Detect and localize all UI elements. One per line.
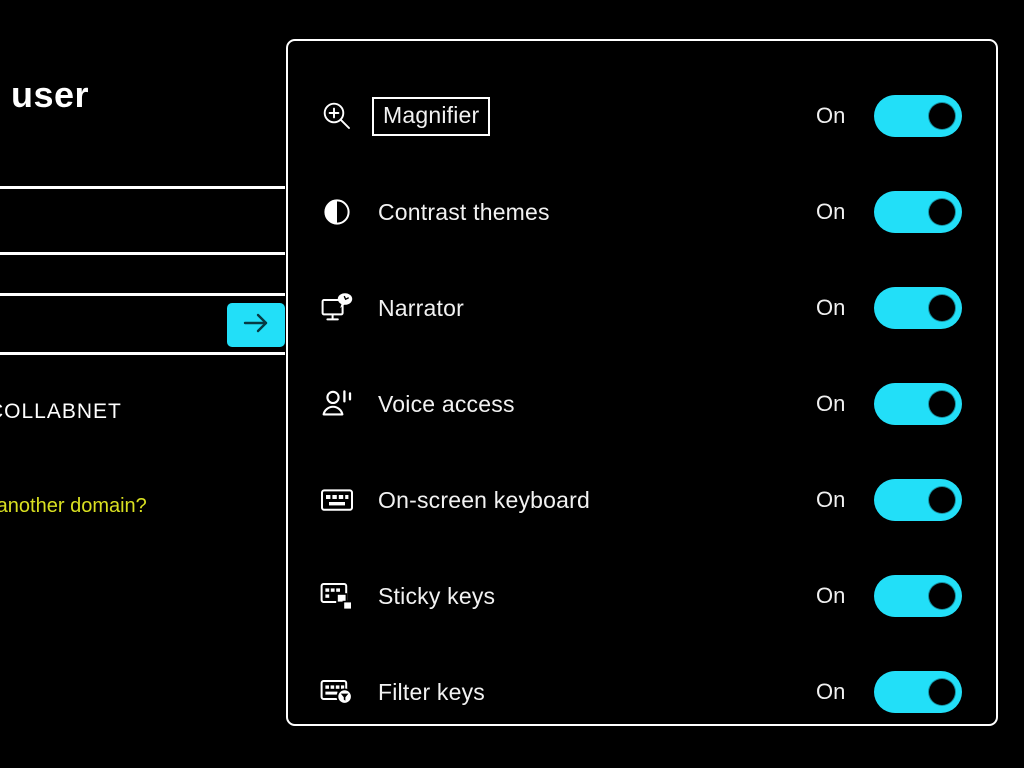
- voice-access-toggle[interactable]: [874, 383, 962, 425]
- toggle-knob: [929, 487, 955, 513]
- accessibility-item-sticky-keys[interactable]: Sticky keys On: [288, 548, 996, 644]
- accessibility-item-state: On: [816, 679, 850, 705]
- narrator-toggle[interactable]: [874, 287, 962, 329]
- accessibility-item-label: Narrator: [378, 295, 816, 322]
- domain-label: COLLABNET: [0, 400, 122, 424]
- accessibility-item-label: On-screen keyboard: [378, 487, 816, 514]
- accessibility-item-state: On: [816, 103, 850, 129]
- contrast-themes-toggle[interactable]: [874, 191, 962, 233]
- accessibility-options-list: Magnifier On Contrast themes On: [288, 41, 996, 726]
- field-divider: [0, 252, 285, 255]
- submit-button[interactable]: [227, 303, 285, 347]
- accessibility-item-state: On: [816, 583, 850, 609]
- sticky-keys-icon: [314, 573, 360, 619]
- toggle-knob: [929, 583, 955, 609]
- accessibility-item-narrator[interactable]: Narrator On: [288, 260, 996, 356]
- toggle-knob: [929, 199, 955, 225]
- accessibility-item-state: On: [816, 295, 850, 321]
- accessibility-item-state: On: [816, 199, 850, 225]
- accessibility-item-label: Sticky keys: [378, 583, 816, 610]
- accessibility-flyout-panel: Magnifier On Contrast themes On: [286, 39, 998, 726]
- accessibility-item-label: Magnifier: [372, 97, 490, 136]
- narrator-icon: [314, 285, 360, 331]
- accessibility-item-label: Filter keys: [378, 679, 816, 706]
- toggle-knob: [929, 391, 955, 417]
- contrast-icon: [314, 189, 360, 235]
- toggle-knob: [929, 295, 955, 321]
- username-field[interactable]: [0, 186, 285, 255]
- voice-access-icon: [314, 381, 360, 427]
- sign-in-other-domain-link[interactable]: o another domain?: [0, 495, 147, 518]
- magnifier-toggle[interactable]: [874, 95, 962, 137]
- accessibility-item-label: Voice access: [378, 391, 816, 418]
- accessibility-item-contrast-themes[interactable]: Contrast themes On: [288, 164, 996, 260]
- toggle-knob: [929, 103, 955, 129]
- on-screen-keyboard-icon: [314, 477, 360, 523]
- accessibility-item-on-screen-keyboard[interactable]: On-screen keyboard On: [288, 452, 996, 548]
- toggle-knob: [929, 679, 955, 705]
- background-signin-dialog: r user COLLABNET o another domain?: [0, 0, 285, 768]
- arrow-right-icon: [241, 311, 271, 340]
- page-title: r user: [0, 74, 89, 116]
- accessibility-item-voice-access[interactable]: Voice access On: [288, 356, 996, 452]
- on-screen-keyboard-toggle[interactable]: [874, 479, 962, 521]
- sticky-keys-toggle[interactable]: [874, 575, 962, 617]
- filter-keys-icon: [314, 669, 360, 715]
- filter-keys-toggle[interactable]: [874, 671, 962, 713]
- accessibility-item-label: Contrast themes: [378, 199, 816, 226]
- screen: r user COLLABNET o another domain?: [0, 0, 1024, 768]
- accessibility-item-magnifier[interactable]: Magnifier On: [288, 68, 996, 164]
- magnifier-icon: [314, 93, 360, 139]
- accessibility-item-state: On: [816, 487, 850, 513]
- accessibility-item-state: On: [816, 391, 850, 417]
- accessibility-item-filter-keys[interactable]: Filter keys On: [288, 644, 996, 726]
